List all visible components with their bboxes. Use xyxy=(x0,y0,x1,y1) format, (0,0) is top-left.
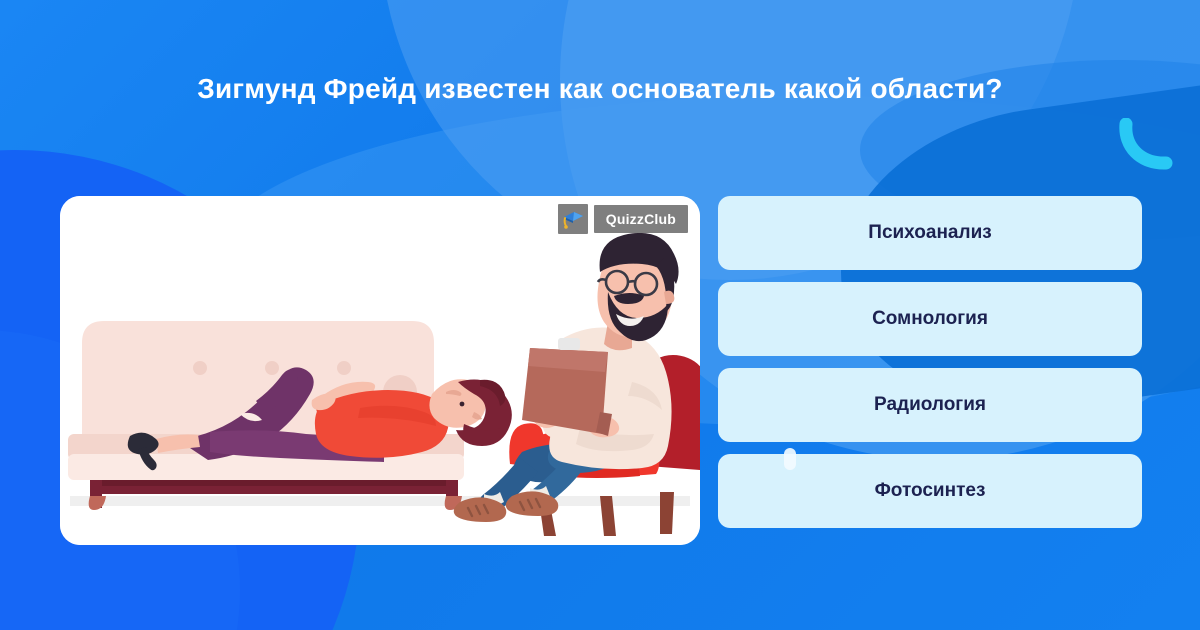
answer-option-2[interactable]: Сомнология xyxy=(718,282,1142,356)
answer-option-4[interactable]: Фотосинтез xyxy=(718,454,1142,528)
psychotherapy-session-illustration xyxy=(60,196,700,545)
graduation-cap-icon xyxy=(558,204,588,234)
scroll-handle-nub[interactable] xyxy=(784,448,796,470)
answer-option-1[interactable]: Психоанализ xyxy=(718,196,1142,270)
answer-options-list: Психоанализ Сомнология Радиология Фотоси… xyxy=(718,196,1142,528)
quiz-card-stage: Зигмунд Фрейд известен как основатель ка… xyxy=(0,0,1200,630)
illustration-card: QuizzClub xyxy=(60,196,700,545)
brand-watermark: QuizzClub xyxy=(558,204,688,234)
answer-option-3[interactable]: Радиология xyxy=(718,368,1142,442)
cyan-crescent-icon xyxy=(1118,118,1176,174)
question-title: Зигмунд Фрейд известен как основатель ка… xyxy=(0,72,1200,106)
brand-name: QuizzClub xyxy=(594,205,688,233)
